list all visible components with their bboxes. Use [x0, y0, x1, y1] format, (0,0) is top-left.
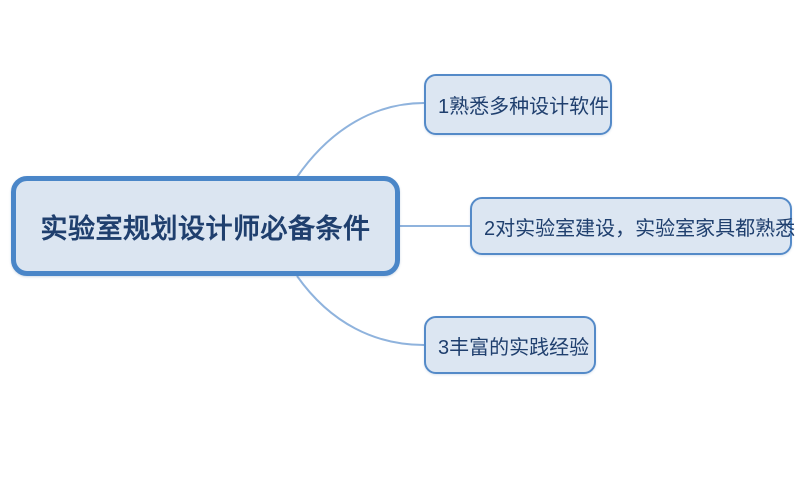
mindmap-canvas: 实验室规划设计师必备条件 1熟悉多种设计软件 2对实验室建设，实验室家具都熟悉 …: [0, 0, 800, 496]
mindmap-root-label: 实验室规划设计师必备条件: [41, 207, 371, 246]
connector-root-to-branch-1: [297, 103, 424, 177]
connector-root-to-branch-3: [297, 276, 424, 345]
mindmap-branch-label-3: 3丰富的实践经验: [438, 331, 589, 360]
mindmap-branch-label-1: 1熟悉多种设计软件: [438, 90, 609, 119]
mindmap-branch-node-2[interactable]: 2对实验室建设，实验室家具都熟悉: [470, 197, 792, 255]
mindmap-root-node[interactable]: 实验室规划设计师必备条件: [11, 176, 400, 276]
mindmap-branch-node-3[interactable]: 3丰富的实践经验: [424, 316, 596, 374]
mindmap-branch-node-1[interactable]: 1熟悉多种设计软件: [424, 74, 612, 135]
mindmap-branch-label-2: 2对实验室建设，实验室家具都熟悉: [484, 212, 795, 241]
